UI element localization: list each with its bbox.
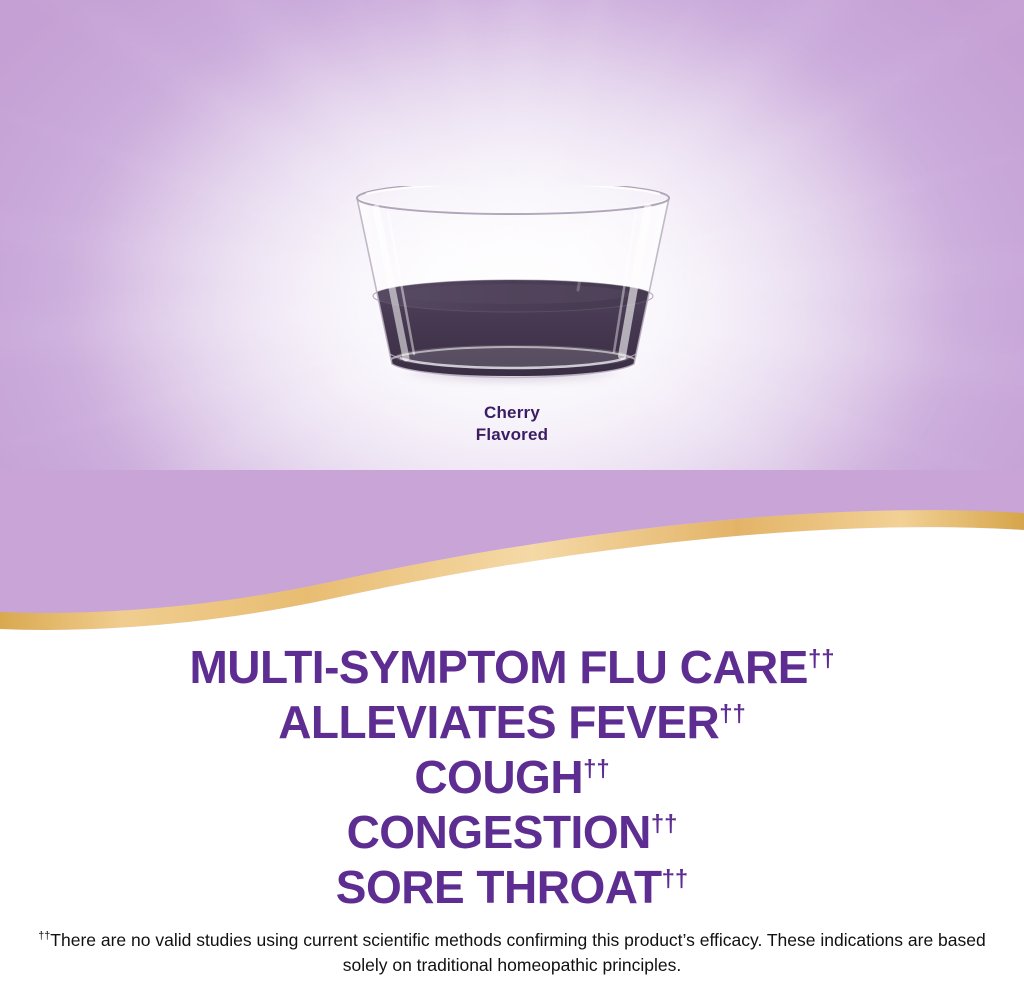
headline-line-4-text: CONGESTION xyxy=(347,806,651,858)
headline-line-1: MULTI-SYMPTOM FLU CARE†† xyxy=(0,644,1024,691)
headline-line-2-text: ALLEVIATES FEVER xyxy=(278,696,719,748)
footnote-disclaimer: ††There are no valid studies using curre… xyxy=(26,928,998,978)
headline-line-5-text: SORE THROAT xyxy=(336,861,662,913)
footnote-marker: †† xyxy=(38,930,50,942)
headline-line-4: CONGESTION†† xyxy=(0,809,1024,856)
product-marketing-image: Cherry Flavored xyxy=(0,0,1024,990)
headline-line-3: COUGH†† xyxy=(0,754,1024,801)
headline-line-3-text: COUGH xyxy=(414,751,583,803)
headline-line-5: SORE THROAT†† xyxy=(0,864,1024,911)
headline-line-1-text: MULTI-SYMPTOM FLU CARE xyxy=(189,641,807,693)
bowl-illustration xyxy=(346,186,680,386)
headline-line-1-marker: †† xyxy=(808,646,835,673)
glass-bowl-with-liquid xyxy=(346,186,680,386)
headline-line-2-marker: †† xyxy=(719,701,746,728)
flavor-caption: Cherry Flavored xyxy=(476,402,548,446)
footnote-text: There are no valid studies using current… xyxy=(50,930,985,975)
headline-line-2: ALLEVIATES FEVER†† xyxy=(0,699,1024,746)
headline-block: MULTI-SYMPTOM FLU CARE†† ALLEVIATES FEVE… xyxy=(0,644,1024,919)
headline-line-3-marker: †† xyxy=(583,755,610,782)
gold-wave-divider xyxy=(0,470,1024,660)
headline-line-5-marker: †† xyxy=(662,865,689,892)
headline-line-4-marker: †† xyxy=(651,810,678,837)
